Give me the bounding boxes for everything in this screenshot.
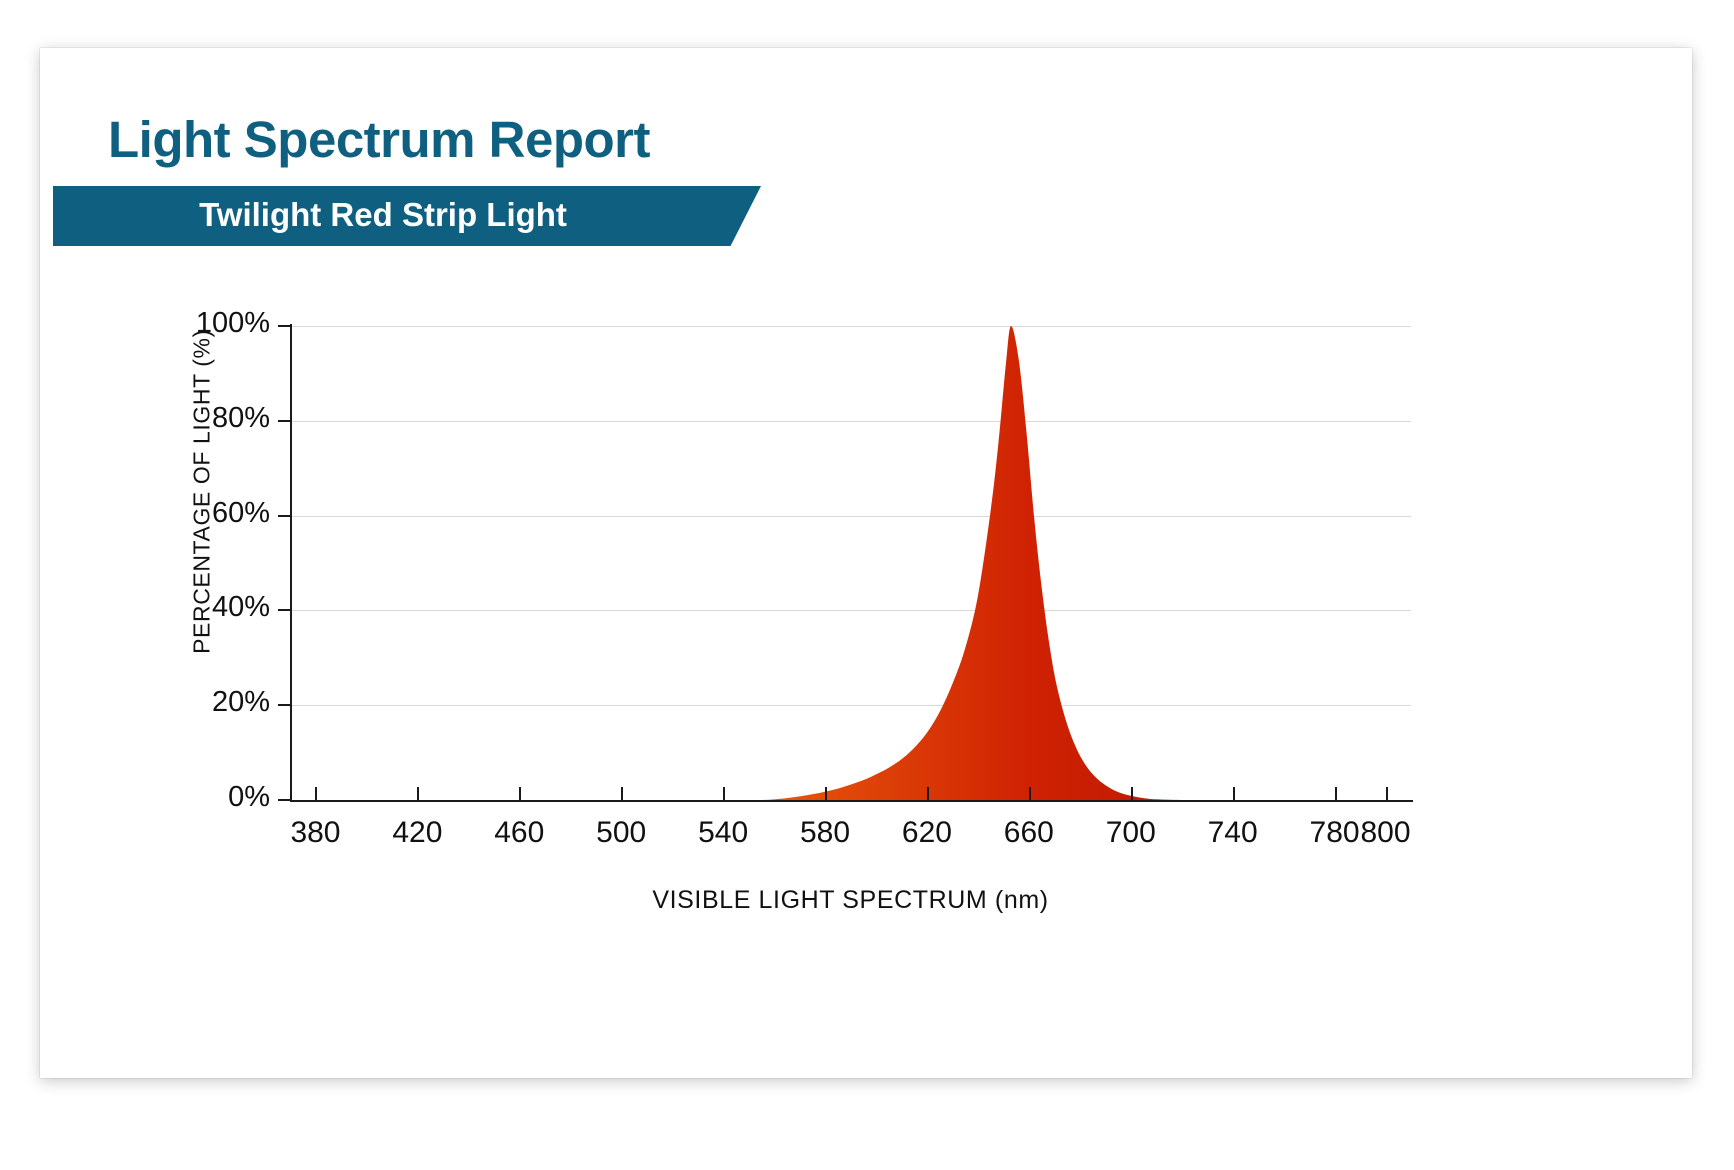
y-tick-mark [278, 609, 290, 611]
y-tick-mark [278, 420, 290, 422]
x-tick-label: 800 [1326, 816, 1446, 850]
spectrum-curve [290, 326, 1411, 802]
spectrum-chart: 100%80%60%40%20%0% 380420460500540580620… [40, 48, 1692, 1078]
y-tick-mark [278, 515, 290, 517]
x-tick-mark [1029, 787, 1031, 801]
y-tick-label: 0% [120, 781, 270, 814]
report-card: Light Spectrum Report Twilight Red Strip… [40, 48, 1692, 1078]
x-tick-mark [1335, 787, 1337, 801]
x-tick-mark [417, 787, 419, 801]
x-tick-mark [1386, 787, 1388, 801]
y-axis-title: PERCENTAGE OF LIGHT (%) [189, 282, 216, 702]
x-axis-line [290, 800, 1413, 802]
x-tick-mark [1233, 787, 1235, 801]
x-tick-mark [723, 787, 725, 801]
x-tick-mark [519, 787, 521, 801]
x-axis-title: VISIBLE LIGHT SPECTRUM (nm) [290, 886, 1411, 915]
x-tick-mark [927, 787, 929, 801]
x-tick-mark [621, 787, 623, 801]
x-tick-mark [825, 787, 827, 801]
y-tick-mark [278, 799, 290, 801]
x-tick-mark [1131, 787, 1133, 801]
x-tick-mark [315, 787, 317, 801]
y-tick-mark [278, 325, 290, 327]
y-axis-line [290, 324, 292, 802]
page-root: Light Spectrum Report Twilight Red Strip… [0, 0, 1734, 1170]
y-tick-mark [278, 704, 290, 706]
